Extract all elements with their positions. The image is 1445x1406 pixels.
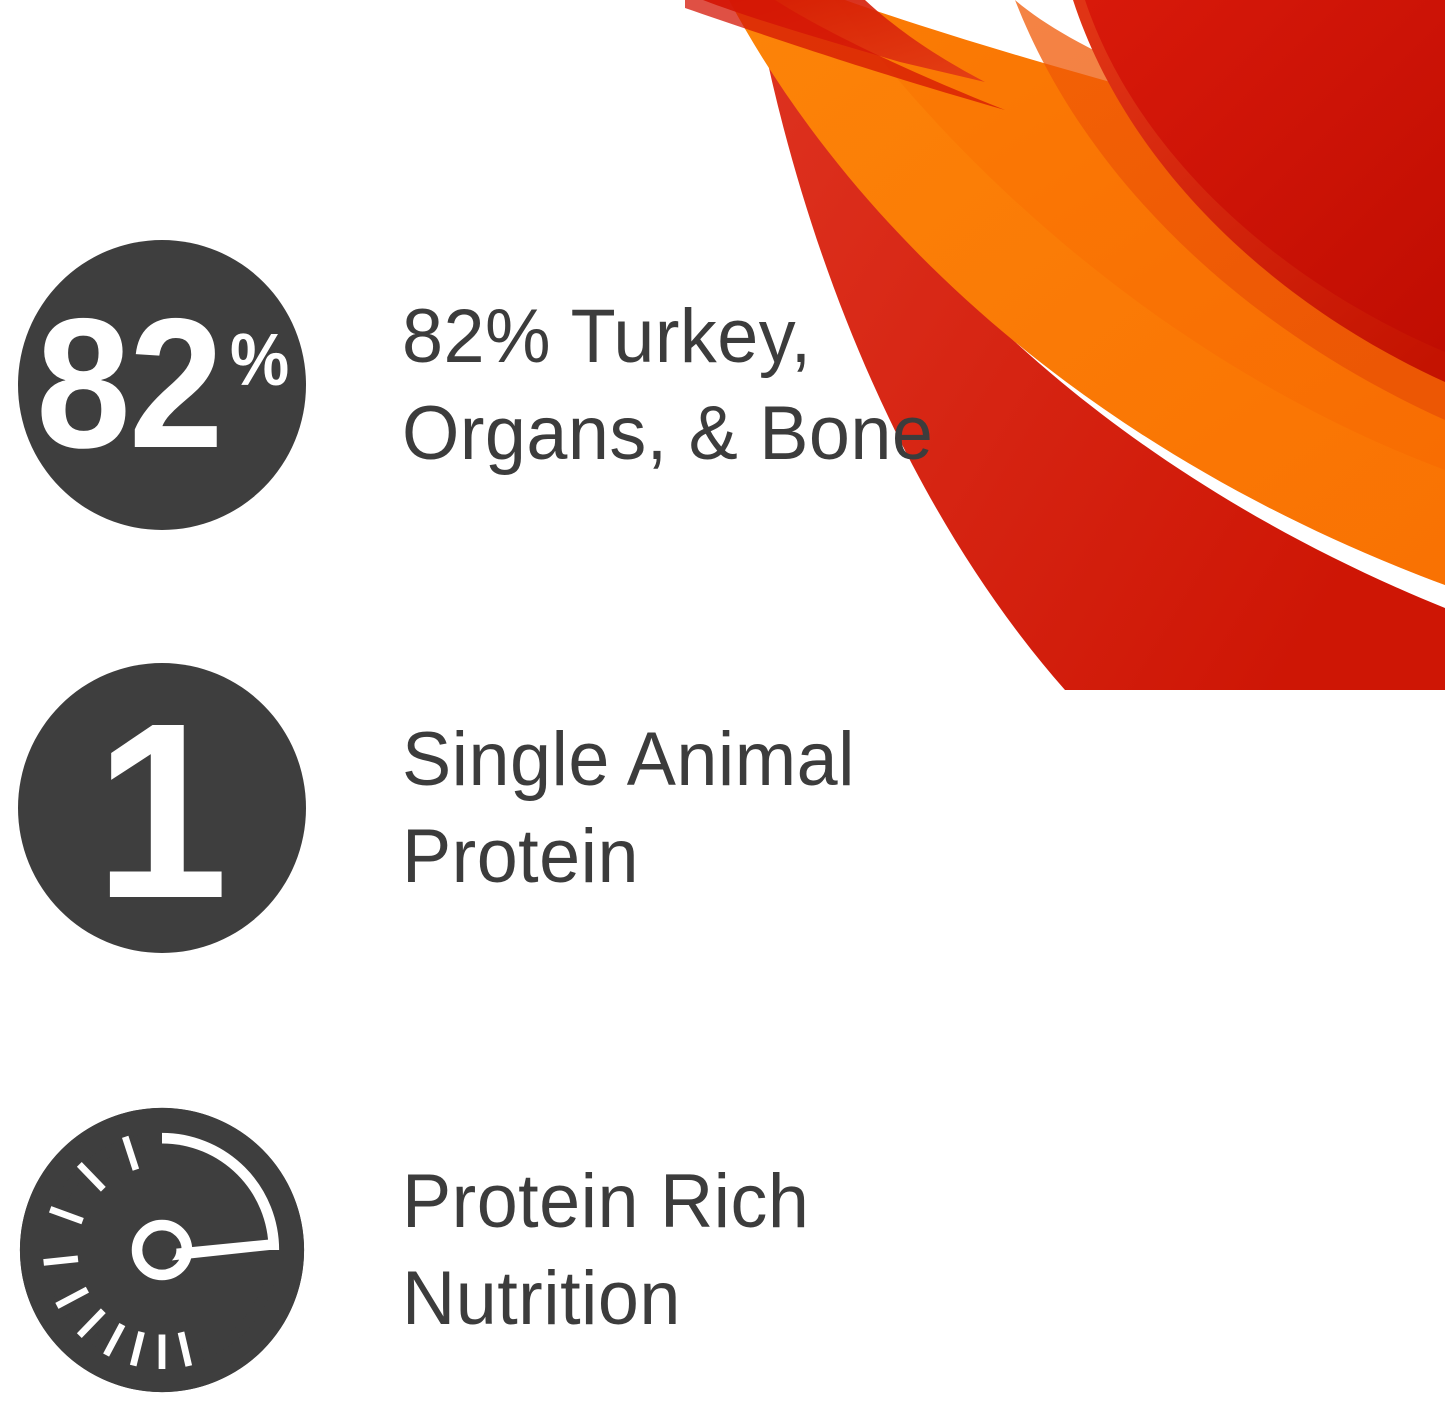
feature-label-single-animal-protein: Single Animal Protein	[402, 711, 855, 906]
gauge-icon	[18, 1105, 306, 1395]
product-feature-panel: 82 % 82% Turkey, Organs, & Bone 1 Single…	[0, 0, 1445, 1406]
feature-row-82-percent: 82 % 82% Turkey, Organs, & Bone	[18, 240, 950, 530]
swoosh-band-red-mid	[1073, 0, 1445, 382]
badge-number-value: 82	[36, 305, 222, 464]
feature-label-82-percent: 82% Turkey, Organs, & Bone	[402, 288, 933, 483]
badge-percent-content: 82 %	[28, 305, 296, 464]
feature-row-protein-rich-nutrition: Protein Rich Nutrition	[18, 1105, 822, 1395]
badge-number-one: 1	[18, 663, 306, 953]
badge-gauge	[18, 1105, 306, 1395]
percent-symbol-icon: %	[230, 323, 289, 397]
badge-82-percent: 82 %	[18, 240, 306, 530]
swoosh-band-orange-deep	[1015, 0, 1445, 420]
feature-row-single-animal-protein: 1 Single Animal Protein	[18, 663, 869, 953]
feature-label-protein-rich-nutrition: Protein Rich Nutrition	[402, 1153, 809, 1348]
swoosh-band-red-dark	[1085, 0, 1445, 352]
badge-number-value: 1	[95, 713, 228, 908]
swoosh-sliver-top-left	[685, 0, 1005, 110]
swoosh-sliver-top	[703, 0, 985, 82]
